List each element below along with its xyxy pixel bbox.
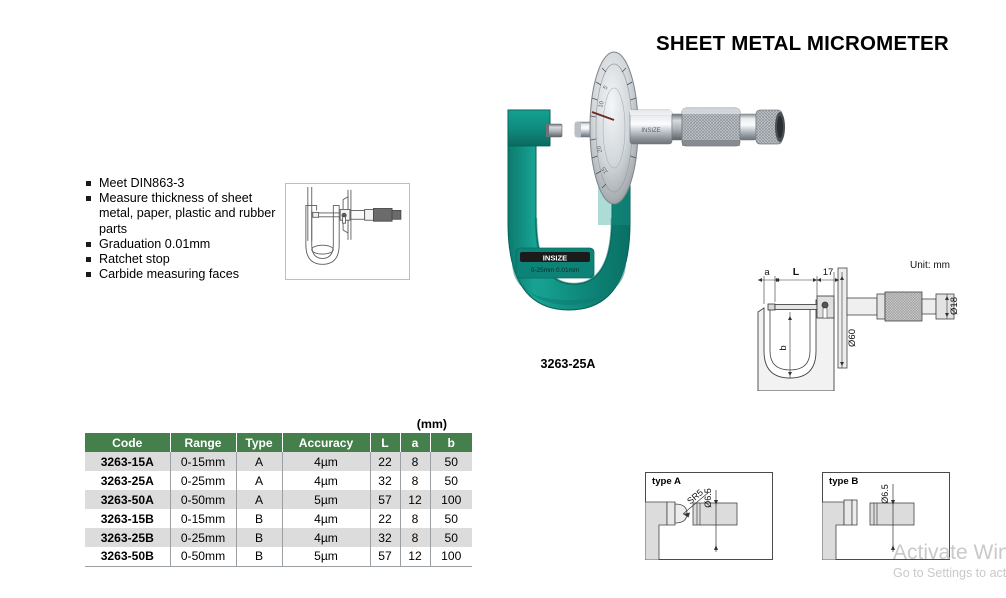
product-caption: 3263-25A — [478, 357, 658, 371]
th-type: Type — [236, 433, 282, 452]
cell-code: 3263-50B — [85, 547, 170, 566]
feature-text: Ratchet stop — [99, 252, 170, 266]
cell-a: 8 — [400, 471, 430, 490]
unit-label: Unit: mm — [910, 260, 950, 271]
feature-text: Carbide measuring faces — [99, 267, 239, 281]
cell-a: 8 — [400, 509, 430, 528]
dim-label-d60: Ø60 — [847, 329, 858, 347]
sleeve-brand: INSIZE — [641, 128, 660, 134]
cell-type: B — [236, 528, 282, 547]
ratchet-stop — [740, 110, 785, 144]
cell-range: 0-50mm — [170, 547, 236, 566]
feature-text: Graduation 0.01mm — [99, 237, 210, 251]
cell-code: 3263-50A — [85, 490, 170, 509]
th-code: Code — [85, 433, 170, 452]
cell-l: 32 — [370, 528, 400, 547]
cell-b: 50 — [430, 528, 472, 547]
cell-range: 0-25mm — [170, 471, 236, 490]
cell-b: 100 — [430, 547, 472, 566]
dim-label-17: 17 — [823, 267, 834, 278]
cell-range: 0-50mm — [170, 490, 236, 509]
cell-type: B — [236, 547, 282, 566]
usage-schematic-box — [285, 183, 410, 280]
dimension-drawing: a L 17 b Ø60 Ø18 Unit: mm — [742, 256, 1006, 391]
type-a-detail: type A SR5 Ø6.5 — [645, 472, 773, 560]
cell-a: 12 — [400, 490, 430, 509]
table-row: 3263-25A 0-25mm A 4µm 32 8 50 — [85, 471, 472, 490]
cell-type: A — [236, 471, 282, 490]
cell-range: 0-15mm — [170, 509, 236, 528]
cell-accuracy: 4µm — [282, 528, 370, 547]
cell-l: 57 — [370, 490, 400, 509]
cell-accuracy: 4µm — [282, 452, 370, 471]
knurled-thimble — [682, 108, 740, 146]
table-row: 3263-50A 0-50mm A 5µm 57 12 100 — [85, 490, 472, 509]
table-row: 3263-15B 0-15mm B 4µm 22 8 50 — [85, 509, 472, 528]
bullet-square-icon — [86, 181, 91, 186]
feature-text: Measure thickness of sheet metal, paper,… — [99, 191, 275, 235]
cell-code: 3263-15A — [85, 452, 170, 471]
cell-range: 0-25mm — [170, 528, 236, 547]
feature-list: Meet DIN863-3 Measure thickness of sheet… — [86, 176, 286, 282]
cell-accuracy: 5µm — [282, 547, 370, 566]
cell-l: 22 — [370, 452, 400, 471]
th-range: Range — [170, 433, 236, 452]
table-row: 3263-15A 0-15mm A 4µm 22 8 50 — [85, 452, 472, 471]
list-item: Graduation 0.01mm — [86, 237, 286, 252]
bullet-square-icon — [86, 272, 91, 277]
list-item: Carbide measuring faces — [86, 267, 286, 282]
dim-label-L: L — [793, 266, 800, 278]
th-accuracy: Accuracy — [282, 433, 370, 452]
type-b-diameter: Ø6.5 — [880, 484, 890, 504]
cell-type: A — [236, 452, 282, 471]
type-a-diameter: Ø6.5 — [703, 488, 713, 508]
cell-range: 0-15mm — [170, 452, 236, 471]
bullet-square-icon — [86, 196, 91, 201]
cell-l: 57 — [370, 547, 400, 566]
cell-a: 12 — [400, 547, 430, 566]
feature-text: Meet DIN863-3 — [99, 176, 184, 190]
table-row: 3263-25B 0-25mm B 4µm 32 8 50 — [85, 528, 472, 547]
cell-accuracy: 4µm — [282, 509, 370, 528]
cell-l: 22 — [370, 509, 400, 528]
table-header-row: Code Range Type Accuracy L a b — [85, 433, 472, 452]
th-b: b — [430, 433, 472, 452]
dim-label-b: b — [778, 345, 789, 350]
cell-type: A — [236, 490, 282, 509]
list-item: Measure thickness of sheet metal, paper,… — [86, 191, 286, 237]
cell-code: 3263-15B — [85, 509, 170, 528]
list-item: Ratchet stop — [86, 252, 286, 267]
dim-label-d18: Ø18 — [949, 297, 960, 315]
brand-plate: INSIZE 0-25mm 0.01mm — [516, 248, 594, 278]
cell-a: 8 — [400, 452, 430, 471]
cell-b: 50 — [430, 509, 472, 528]
table-row: 3263-50B 0-50mm B 5µm 57 12 100 — [85, 547, 472, 566]
th-l: L — [370, 433, 400, 452]
usage-schematic-icon — [286, 184, 409, 279]
specification-table: Code Range Type Accuracy L a b 3263-15A … — [85, 433, 472, 567]
bullet-square-icon — [86, 242, 91, 247]
watermark-subtitle: Go to Settings to activate Windows. — [893, 565, 1006, 581]
th-a: a — [400, 433, 430, 452]
table-unit-label: (mm) — [417, 417, 447, 431]
cell-l: 32 — [370, 471, 400, 490]
dim-label-a: a — [764, 267, 770, 278]
sleeve-barrel: INSIZE — [630, 110, 682, 144]
cell-a: 8 — [400, 528, 430, 547]
list-item: Meet DIN863-3 — [86, 176, 286, 191]
dimension-drawing-icon: a L 17 b Ø60 Ø18 Unit: mm — [742, 256, 1006, 391]
cell-b: 50 — [430, 471, 472, 490]
cell-b: 100 — [430, 490, 472, 509]
anvil — [546, 124, 562, 137]
type-a-label: type A — [652, 476, 681, 487]
bullet-square-icon — [86, 257, 91, 262]
cell-type: B — [236, 509, 282, 528]
cell-accuracy: 5µm — [282, 490, 370, 509]
type-b-label: type B — [829, 476, 858, 487]
cell-code: 3263-25B — [85, 528, 170, 547]
cell-accuracy: 4µm — [282, 471, 370, 490]
cell-b: 50 — [430, 452, 472, 471]
type-b-detail: type B Ø6.5 — [822, 472, 950, 560]
brand-name: INSIZE — [543, 253, 567, 262]
plate-spec: 0-25mm 0.01mm — [531, 267, 579, 274]
cell-code: 3263-25A — [85, 471, 170, 490]
